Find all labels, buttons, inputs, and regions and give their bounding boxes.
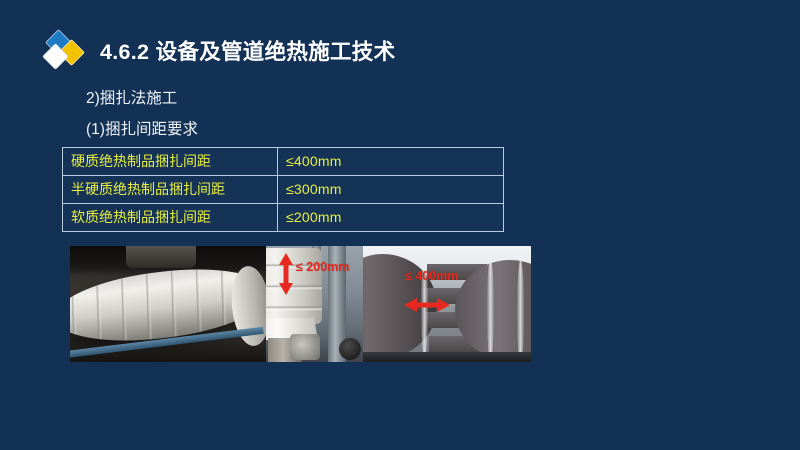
horizontal-double-arrow-icon bbox=[404, 298, 450, 312]
table-cell-label: 半硬质绝热制品捆扎间距 bbox=[63, 176, 278, 204]
photo-handwheel bbox=[339, 338, 361, 360]
table-row: 半硬质绝热制品捆扎间距 ≤300mm bbox=[63, 176, 504, 204]
page-title: 4.6.2 设备及管道绝热施工技术 bbox=[100, 35, 395, 66]
photo-ground bbox=[363, 352, 531, 362]
photo-strip: ≤ 200mm ≤ 400mm bbox=[70, 246, 531, 362]
photo-duct bbox=[126, 246, 196, 268]
table-cell-label: 软质绝热制品捆扎间距 bbox=[63, 204, 278, 232]
body-line-requirement: (1)捆扎间距要求 bbox=[86, 117, 198, 139]
photo-binding-band bbox=[487, 258, 494, 362]
table-cell-value: ≤200mm bbox=[278, 204, 504, 232]
photo-binding-band bbox=[517, 260, 524, 362]
vertical-double-arrow-icon bbox=[279, 253, 293, 295]
binding-spacing-table: 硬质绝热制品捆扎间距 ≤400mm 半硬质绝热制品捆扎间距 ≤300mm 软质绝… bbox=[62, 147, 504, 232]
annotation-200mm: ≤ 200mm bbox=[296, 260, 349, 274]
body-line-method: 2)捆扎法施工 bbox=[86, 86, 177, 108]
table-cell-value: ≤300mm bbox=[278, 176, 504, 204]
annotation-400mm: ≤ 400mm bbox=[405, 269, 458, 283]
photo-valve bbox=[290, 334, 320, 360]
insulated-vertical-stack-photo: ≤ 200mm bbox=[266, 246, 363, 362]
slide-title-row: 4.6.2 设备及管道绝热施工技术 bbox=[44, 28, 395, 72]
slide-canvas: 4.6.2 设备及管道绝热施工技术 2)捆扎法施工 (1)捆扎间距要求 硬质绝热… bbox=[0, 0, 800, 450]
insulated-horizontal-pipe-photo bbox=[70, 246, 266, 362]
table-row: 软质绝热制品捆扎间距 ≤200mm bbox=[63, 204, 504, 232]
table-row: 硬质绝热制品捆扎间距 ≤400mm bbox=[63, 148, 504, 176]
three-diamond-logo-icon bbox=[44, 28, 88, 72]
insulated-vessel-banding-photo: ≤ 400mm bbox=[363, 246, 531, 362]
table-cell-value: ≤400mm bbox=[278, 148, 504, 176]
table-cell-label: 硬质绝热制品捆扎间距 bbox=[63, 148, 278, 176]
